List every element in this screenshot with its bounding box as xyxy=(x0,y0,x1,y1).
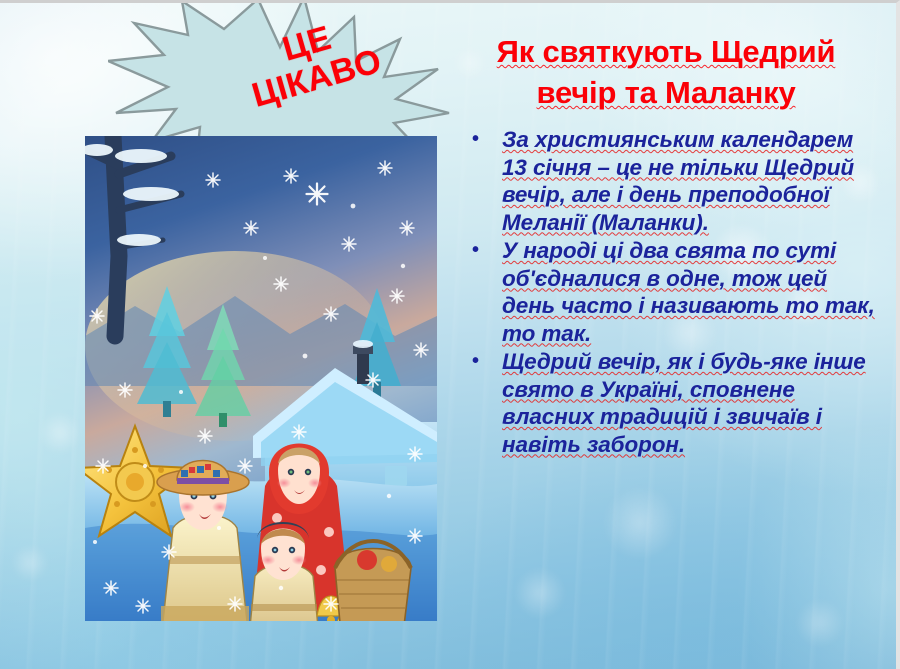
bullet-text: У народі ці два свята по суті об'єдналис… xyxy=(502,237,880,347)
list-item: • Щедрий вечір, як і будь-яке інше свято… xyxy=(470,348,880,458)
list-item: • За християнським календарем 13 січня –… xyxy=(470,126,880,236)
illustration-image xyxy=(85,136,437,621)
slide-canvas: ЦЕ ЦІКАВО xyxy=(0,0,900,669)
text-content-column: Як святкують Щедрий вечір та Маланку • З… xyxy=(452,31,880,631)
bullet-list: • За християнським календарем 13 січня –… xyxy=(452,126,880,458)
page-title: Як святкують Щедрий вечір та Маланку xyxy=(452,31,880,113)
bullet-marker-icon: • xyxy=(470,126,502,153)
list-item: • У народі ці два свята по суті об'єднал… xyxy=(470,237,880,347)
bullet-text: Щедрий вечір, як і будь-яке інше свято в… xyxy=(502,348,880,458)
bullet-text: За християнським календарем 13 січня – ц… xyxy=(502,126,880,236)
bullet-marker-icon: • xyxy=(470,237,502,264)
bullet-marker-icon: • xyxy=(470,348,502,375)
carolers-illustration-icon xyxy=(85,136,437,621)
